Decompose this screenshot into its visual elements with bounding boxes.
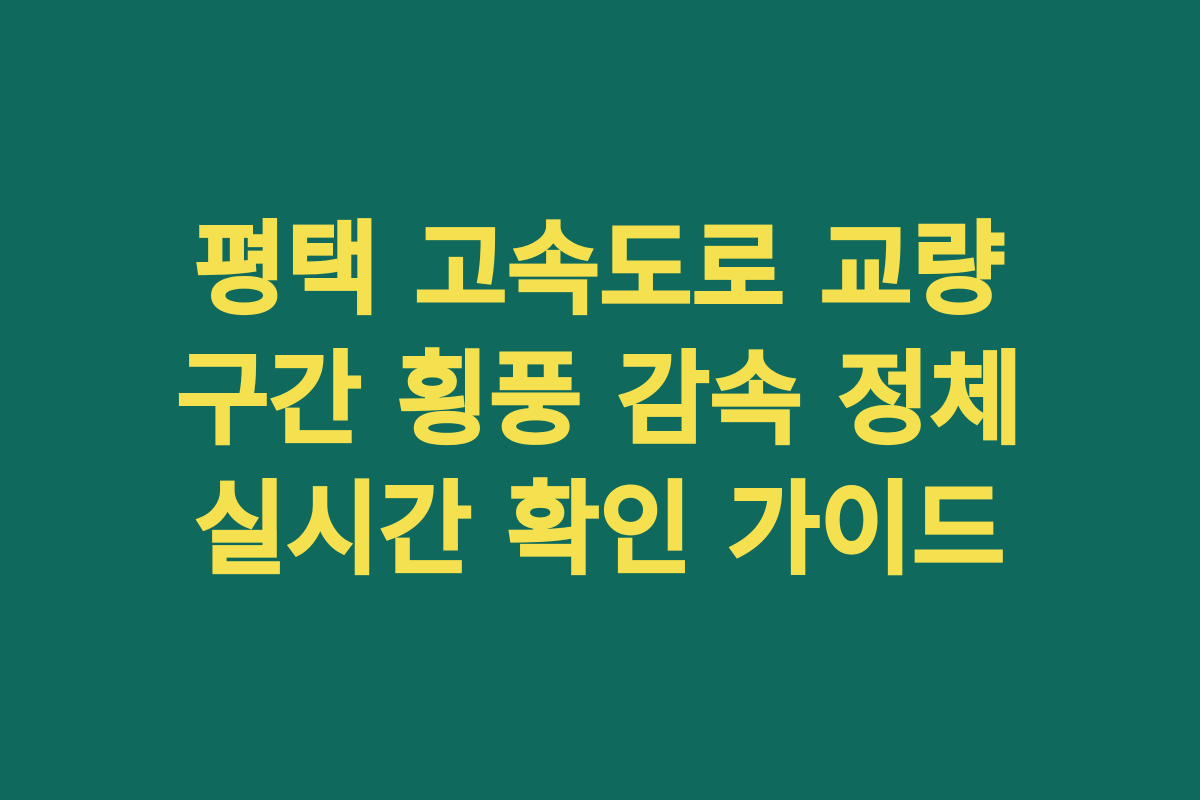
thumbnail-card: 평택 고속도로 교량 구간 횡풍 감속 정체 실시간 확인 가이드 (0, 0, 1200, 800)
title-block: 평택 고속도로 교량 구간 횡풍 감속 정체 실시간 확인 가이드 (120, 205, 1080, 595)
page-title: 평택 고속도로 교량 구간 횡풍 감속 정체 실시간 확인 가이드 (120, 205, 1080, 595)
